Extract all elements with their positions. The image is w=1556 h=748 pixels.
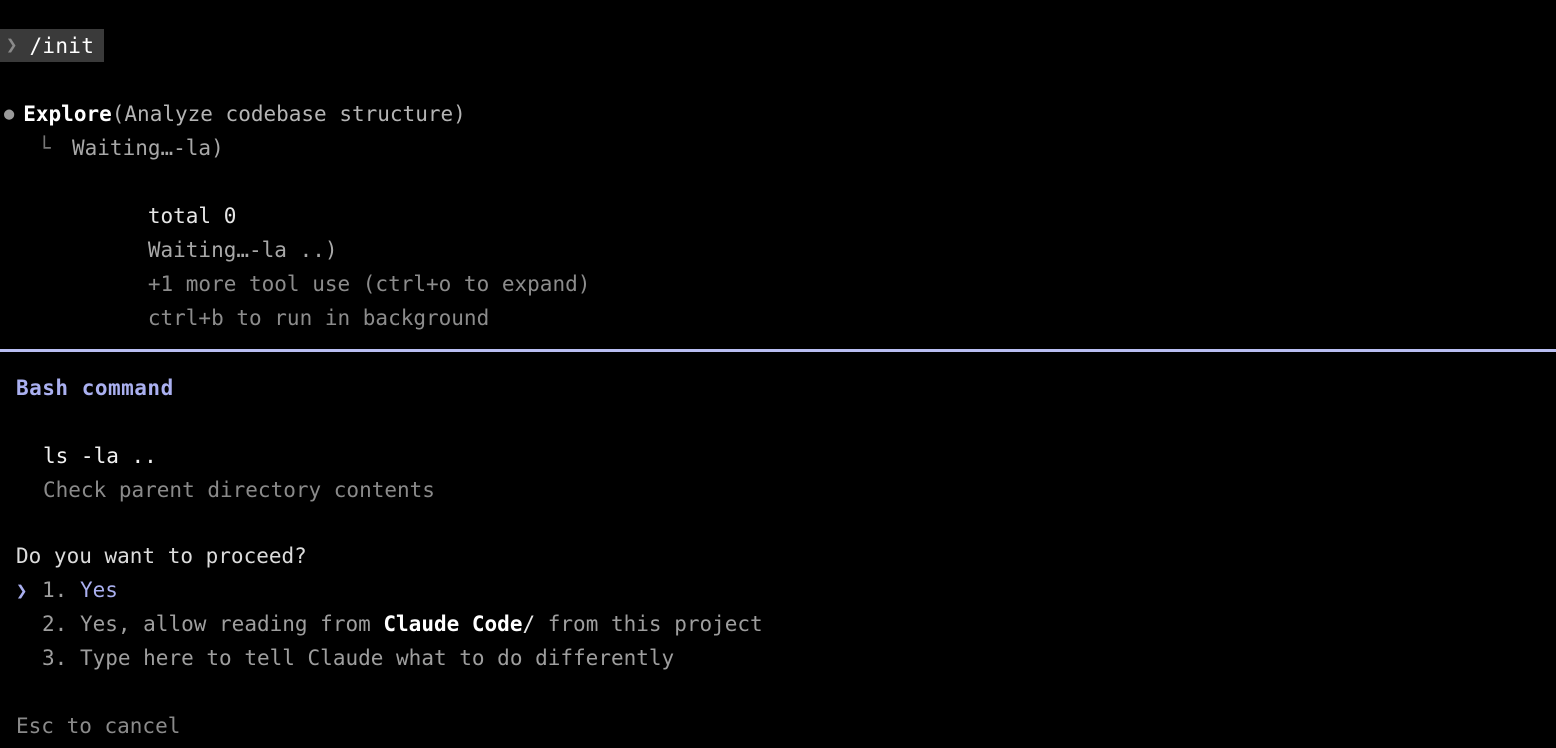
panel-spacer (0, 405, 1556, 439)
task-header: ● Explore (Analyze codebase structure) (0, 97, 1556, 131)
cancel-hint: Esc to cancel (0, 709, 1556, 743)
task-description: (Analyze codebase structure) (112, 97, 466, 131)
task-line-text: ctrl+b to run in background (148, 306, 489, 330)
option-path-slash: / (522, 607, 535, 641)
terminal-screen: ❯ /init ● Explore (Analyze codebase stru… (0, 0, 1556, 748)
task-line-text: +1 more tool use (ctrl+o to expand) (148, 272, 591, 296)
command-echo-text: /init (29, 29, 94, 63)
selection-chevron-icon: ❯ (16, 574, 42, 608)
option-emphasis: Claude Code (383, 607, 522, 641)
proposed-command-description: Check parent directory contents (0, 473, 1556, 507)
bullet-icon: ● (4, 106, 14, 123)
task-line-waiting-1: └ Waiting…-la) (0, 131, 1556, 165)
task-line-total: total 0 (0, 165, 1556, 199)
option-label: Type here to tell Claude what to do diff… (67, 641, 674, 675)
panel-divider (0, 349, 1556, 352)
option-number: 1. (42, 573, 67, 607)
option-label: Yes (67, 573, 118, 607)
option-type-custom-instruction[interactable]: ❯ 3. Type here to tell Claude what to do… (0, 641, 1556, 675)
proposed-command: ls -la .. (0, 439, 1556, 473)
option-yes-allow-project[interactable]: ❯ 2. Yes, allow reading from Claude Code… (0, 607, 1556, 641)
task-line-text: Waiting…-la) (72, 131, 224, 165)
option-label-suffix: from this project (535, 607, 763, 641)
permission-panel: Bash command ls -la .. Check parent dire… (0, 371, 1556, 743)
task-name: Explore (23, 97, 112, 131)
option-label: Yes, allow reading from (67, 607, 383, 641)
task-block: ● Explore (Analyze codebase structure) └… (0, 97, 1556, 301)
task-line-text: total 0 (148, 204, 237, 228)
option-yes[interactable]: ❯ 1. Yes (0, 573, 1556, 607)
panel-title: Bash command (0, 371, 1556, 405)
confirmation-question: Do you want to proceed? (0, 539, 1556, 573)
option-number: 2. (42, 607, 67, 641)
selection-chevron-icon-placeholder: ❯ (16, 642, 42, 676)
panel-spacer (0, 675, 1556, 709)
command-echo-row: ❯ /init (0, 29, 104, 62)
selection-chevron-icon-placeholder: ❯ (16, 608, 42, 642)
option-number: 3. (42, 641, 67, 675)
tree-branch-icon: └ (38, 131, 72, 165)
task-line-text: Waiting…-la ..) (148, 238, 338, 262)
panel-spacer (0, 507, 1556, 539)
chevron-right-icon: ❯ (6, 36, 17, 55)
